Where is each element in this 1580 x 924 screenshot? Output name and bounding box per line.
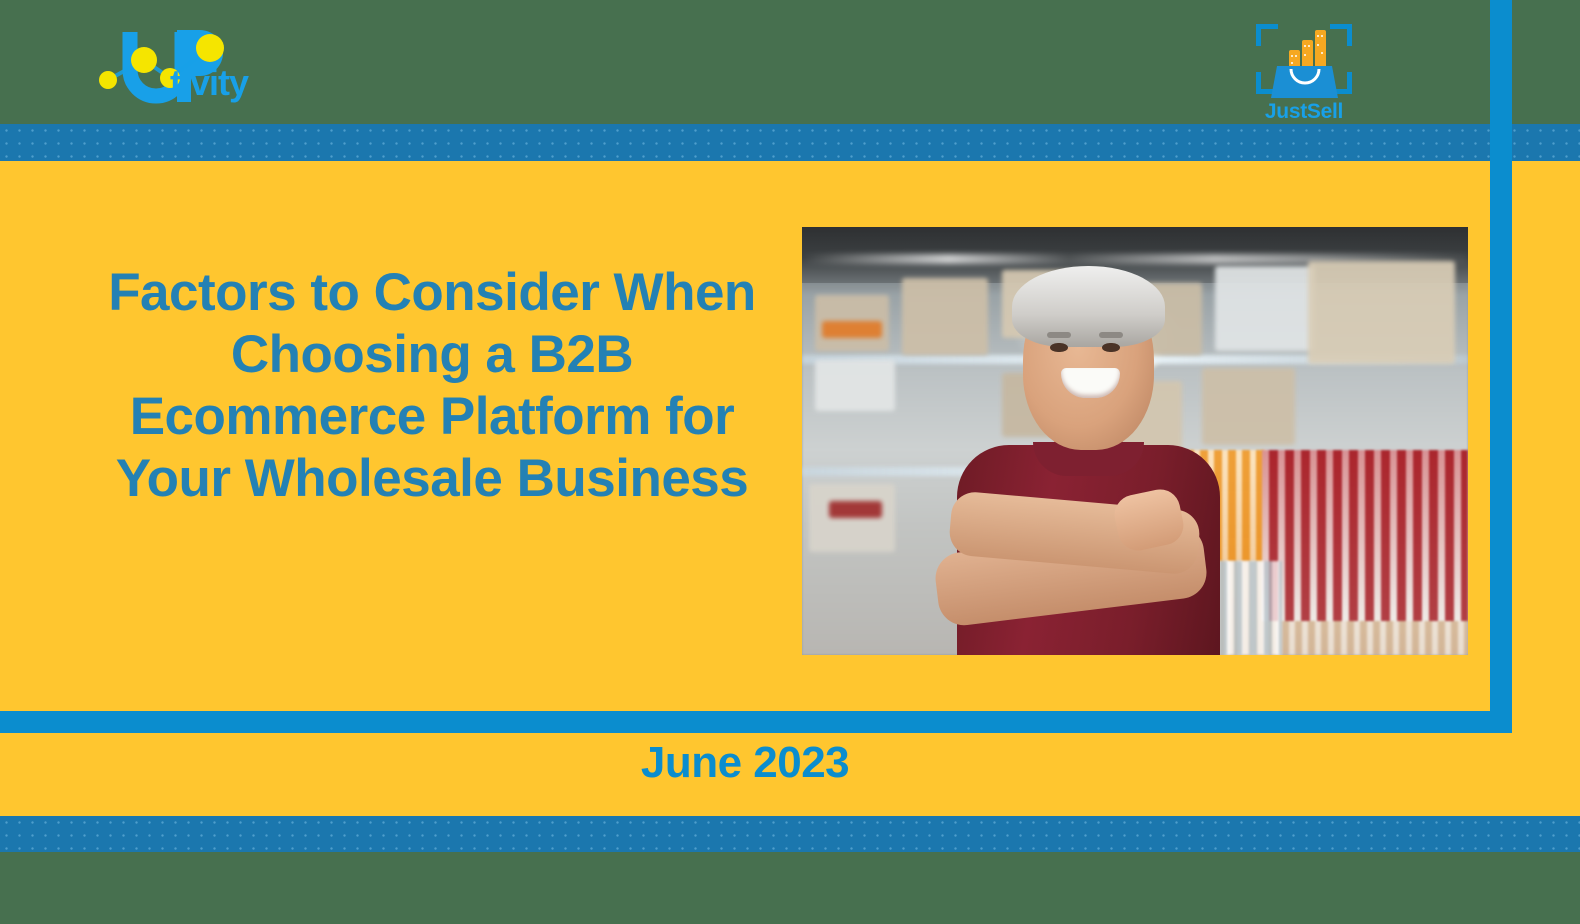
- stacked-box: [822, 321, 882, 338]
- page-title: Factors to Consider When Choosing a B2B …: [96, 262, 768, 510]
- eyebrow: [1047, 332, 1071, 338]
- bottom-green-band: [0, 852, 1580, 924]
- stacked-box: [829, 501, 882, 518]
- title-block: Factors to Consider When Choosing a B2B …: [96, 262, 768, 510]
- eye: [1050, 343, 1067, 353]
- top-blue-band: [0, 124, 1580, 161]
- stacked-box: [809, 484, 896, 552]
- hero-photo: [802, 227, 1468, 655]
- red-beverage-cases: [1262, 450, 1468, 621]
- stacked-box: [815, 360, 895, 411]
- person-figure: [915, 227, 1261, 655]
- horizontal-accent-rule: [0, 711, 1512, 733]
- eyebrow: [1099, 332, 1123, 338]
- bottom-blue-band: [0, 816, 1580, 852]
- shopping-bag-chart-icon: [1246, 14, 1362, 106]
- gray-hair: [1012, 266, 1164, 347]
- uptivity-logo[interactable]: tivity: [92, 18, 292, 110]
- date-label: June 2023: [0, 733, 1490, 793]
- presentation-slide: tivity JustSell Factors to Conside: [0, 0, 1580, 924]
- stacked-box: [1308, 261, 1455, 364]
- eye: [1102, 343, 1119, 353]
- warehouse-portrait-image: [802, 227, 1468, 655]
- justsell-wordmark: JustSell: [1246, 100, 1362, 124]
- uptivity-wordmark-suffix: tivity: [170, 62, 248, 104]
- justsell-logo[interactable]: JustSell: [1246, 12, 1362, 124]
- vertical-accent-rule: [1490, 0, 1512, 733]
